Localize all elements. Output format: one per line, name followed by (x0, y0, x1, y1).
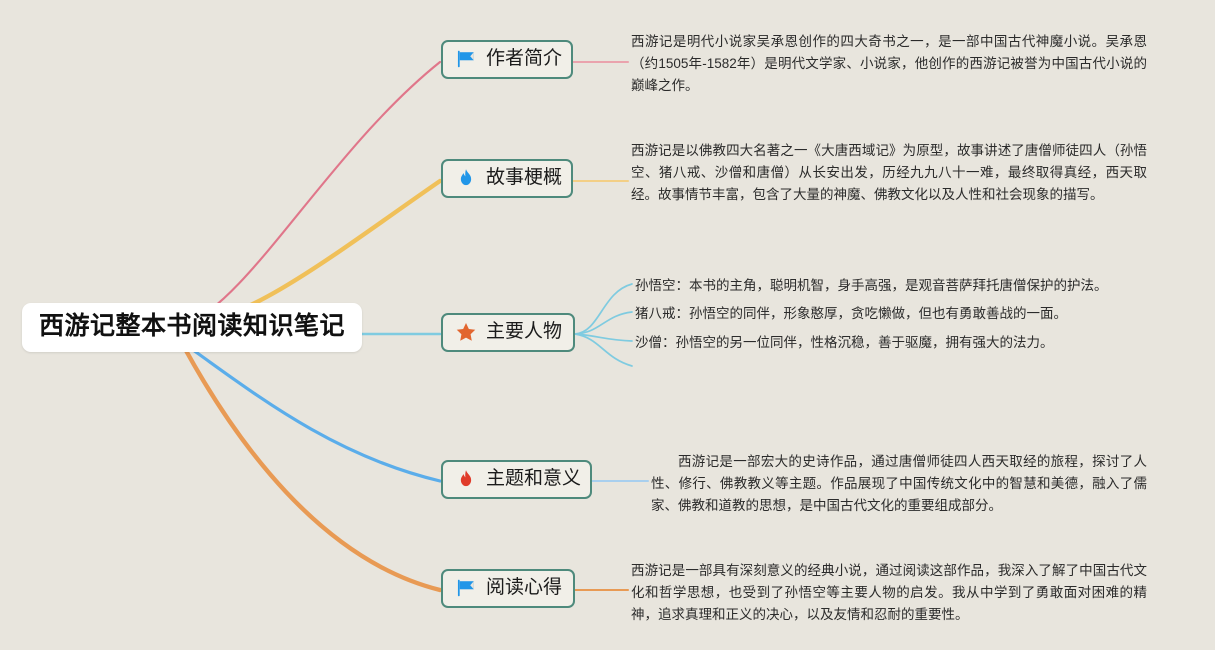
character-item-1: 孙悟空：本书的主角，聪明机智，身手高强，是观音菩萨拜托唐僧保护的护法。 (635, 276, 1108, 296)
mindmap-canvas: 西游记整本书阅读知识笔记 作者简介 西游记是明代小说家吴承恩创作的四大奇书之一，… (0, 0, 1215, 650)
branch-node-author-intro[interactable]: 作者简介 (441, 40, 573, 79)
branch-label-theme-meaning: 主题和意义 (486, 469, 581, 490)
text-block-theme-meaning: 西游记是一部宏大的史诗作品，通过唐僧师徒四人西天取经的旅程，探讨了人性、修行、佛… (651, 451, 1147, 517)
text-block-reading-notes: 西游记是一部具有深刻意义的经典小说，通过阅读这部作品，我深入了解了中国古代文化和… (631, 560, 1147, 626)
orange-star-icon (455, 321, 477, 343)
branch-label-main-characters: 主要人物 (486, 322, 562, 343)
connector-author-intro (185, 62, 440, 325)
text-block-author-intro: 西游记是明代小说家吴承恩创作的四大奇书之一，是一部中国古代神魔小说。吴承恩（约1… (631, 31, 1147, 97)
branch-node-theme-meaning[interactable]: 主题和意义 (441, 460, 592, 499)
character-item-2: 猪八戒：孙悟空的同伴，形象憨厚，贪吃懒做，但也有勇敢善战的一面。 (635, 304, 1067, 324)
connector-character-2 (575, 312, 632, 334)
connector-character-fan-lower-1 (575, 334, 632, 366)
branch-label-story-outline: 故事梗概 (486, 168, 562, 189)
connector-reading-notes (184, 347, 440, 590)
connector-character-1 (575, 284, 632, 334)
root-node[interactable]: 西游记整本书阅读知识笔记 (22, 303, 362, 352)
branch-label-reading-notes: 阅读心得 (486, 578, 562, 599)
connector-theme-meaning (186, 345, 440, 481)
root-node-label: 西游记整本书阅读知识笔记 (39, 312, 345, 341)
connector-character-3 (575, 334, 632, 341)
text-block-story-outline: 西游记是以佛教四大名著之一《大唐西域记》为原型，故事讲述了唐僧师徒四人（孙悟空、… (631, 140, 1147, 206)
blue-flag-icon (455, 577, 477, 599)
blue-flag-icon (455, 48, 477, 70)
character-item-3: 沙僧：孙悟空的另一位同伴，性格沉稳，善于驱魔，拥有强大的法力。 (635, 333, 1054, 353)
branch-node-story-outline[interactable]: 故事梗概 (441, 159, 573, 198)
blue-flame-icon (455, 167, 477, 189)
branch-node-main-characters[interactable]: 主要人物 (441, 313, 575, 352)
branch-label-author-intro: 作者简介 (486, 49, 562, 70)
branch-node-reading-notes[interactable]: 阅读心得 (441, 569, 575, 608)
red-flame-icon (455, 468, 477, 490)
